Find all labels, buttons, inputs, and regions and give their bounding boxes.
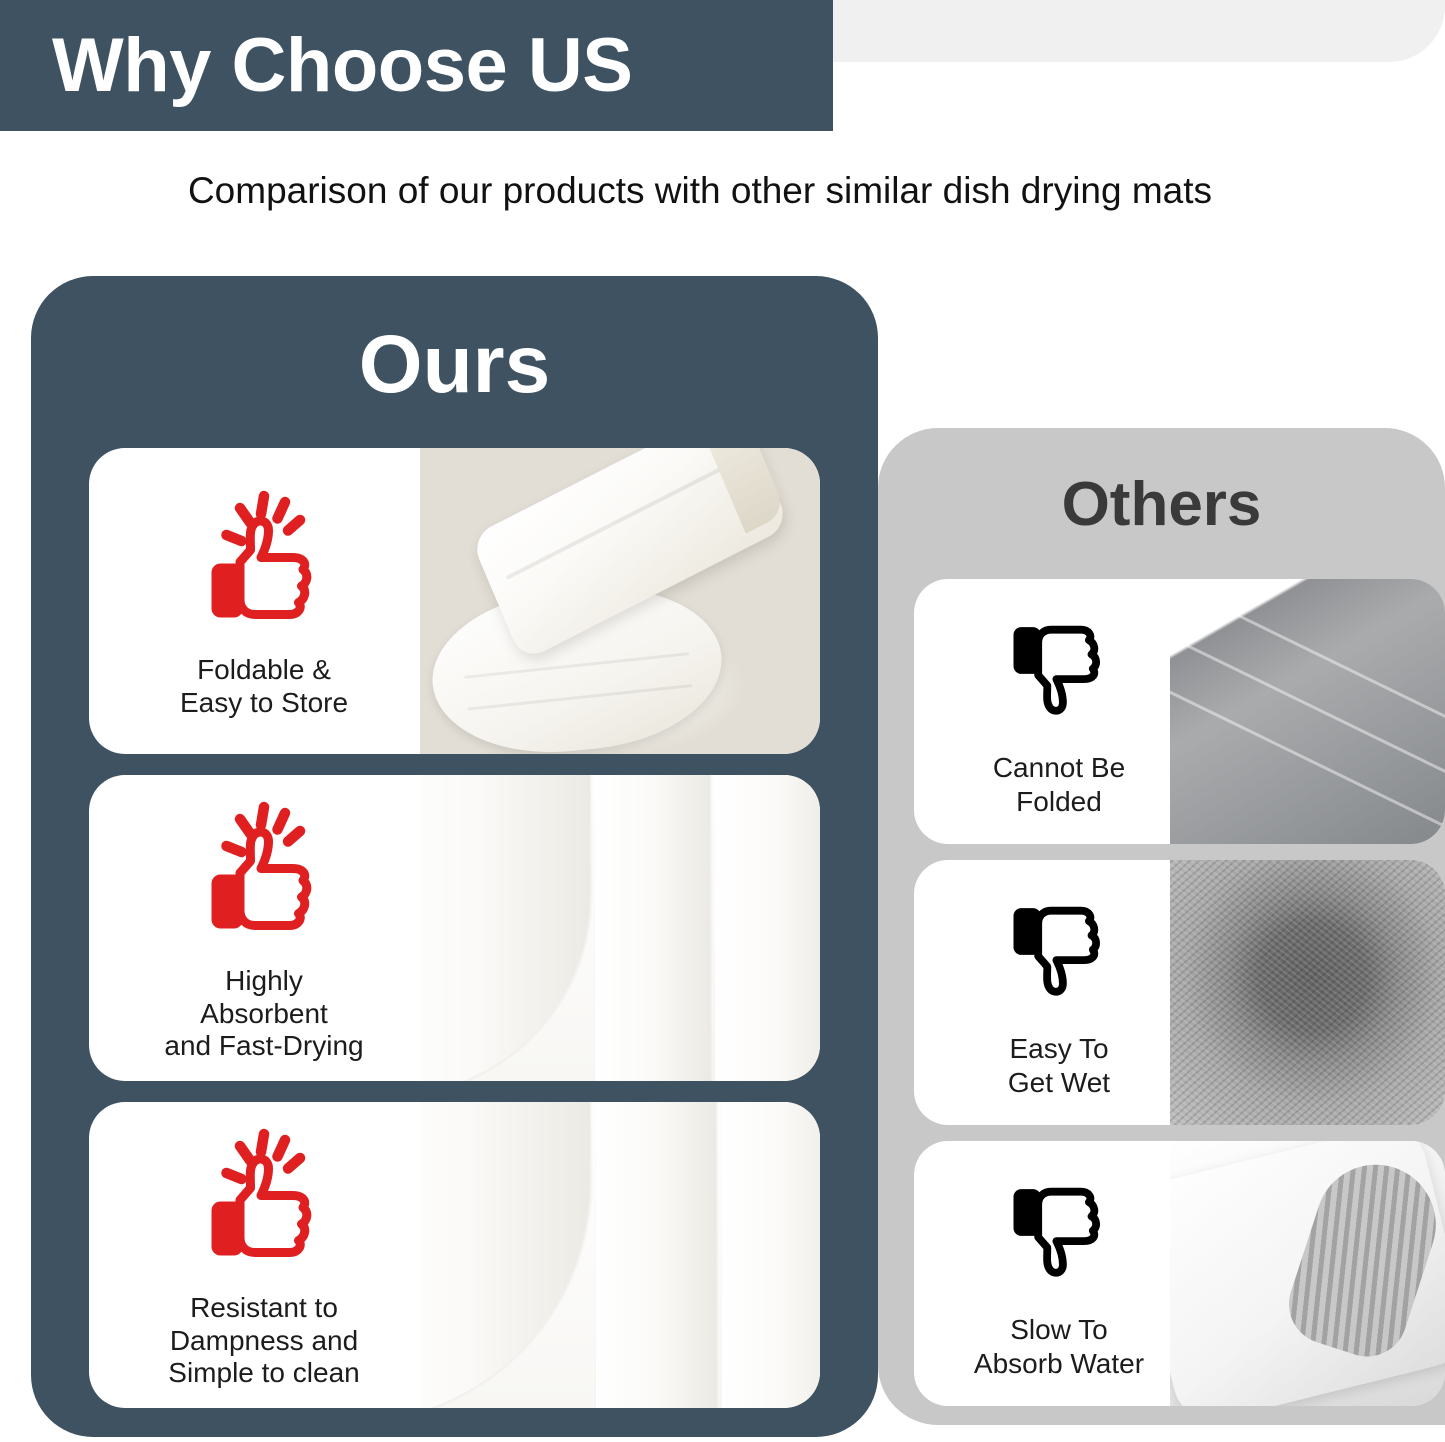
ours-card-absorbent: Highly Absorbent and Fast-Drying	[89, 775, 820, 1081]
others-card-text: Easy To Get Wet	[914, 860, 1204, 1125]
mat-slat	[596, 1102, 716, 1408]
thumbs-down-icon	[994, 886, 1124, 1016]
ours-card-caption: Resistant to Dampness and Simple to clea…	[168, 1292, 359, 1390]
ours-card-caption: Foldable & Easy to Store	[180, 654, 348, 720]
others-card-caption: Cannot Be Folded	[993, 751, 1125, 818]
thumbs-up-icon	[189, 1128, 339, 1278]
mat-slat	[722, 1102, 820, 1408]
mat-slat	[715, 775, 820, 1081]
ours-card-text: Resistant to Dampness and Simple to clea…	[89, 1102, 439, 1408]
ours-heading: Ours	[31, 324, 878, 406]
ours-card-text: Foldable & Easy to Store	[89, 448, 439, 754]
ours-card-list: Foldable & Easy to Store	[89, 448, 820, 1429]
others-card-list: Cannot Be Folded Easy To Get Wet	[914, 579, 1445, 1422]
ours-card-photo	[420, 448, 820, 754]
others-card-cannot-fold: Cannot Be Folded	[914, 579, 1445, 844]
others-card-caption: Easy To Get Wet	[1008, 1032, 1110, 1099]
thumbs-up-icon	[189, 801, 339, 951]
ours-card-photo	[420, 775, 820, 1081]
others-card-photo	[1170, 579, 1445, 844]
others-card-text: Slow To Absorb Water	[914, 1141, 1204, 1406]
mat-ridge	[1170, 687, 1445, 834]
others-card-photo	[1170, 1141, 1445, 1406]
thumbs-down-icon	[994, 1167, 1124, 1297]
ours-card-foldable: Foldable & Easy to Store	[89, 448, 820, 754]
mat-slat	[420, 775, 590, 1081]
others-panel: Others Cannot Be Folded	[878, 428, 1445, 1425]
others-card-slow-absorb: Slow To Absorb Water	[914, 1141, 1445, 1406]
others-card-text: Cannot Be Folded	[914, 579, 1204, 844]
page-subtitle: Comparison of our products with other si…	[0, 170, 1400, 212]
ours-card-resistant: Resistant to Dampness and Simple to clea…	[89, 1102, 820, 1408]
ours-panel: Ours	[31, 276, 878, 1437]
others-card-photo	[1170, 860, 1445, 1125]
thumbs-up-icon	[189, 490, 339, 640]
page-title: Why Choose US	[52, 28, 632, 104]
others-card-caption: Slow To Absorb Water	[974, 1313, 1144, 1380]
others-card-easy-wet: Easy To Get Wet	[914, 860, 1445, 1125]
mat-slat	[420, 1102, 590, 1408]
ours-card-text: Highly Absorbent and Fast-Drying	[89, 775, 439, 1081]
thumbs-down-icon	[994, 605, 1124, 735]
mat-slat	[595, 775, 710, 1081]
header-banner: Why Choose US	[0, 0, 833, 131]
ours-card-caption: Highly Absorbent and Fast-Drying	[164, 965, 363, 1063]
top-right-gray-band	[833, 0, 1445, 62]
others-heading: Others	[878, 474, 1445, 536]
ours-card-photo	[420, 1102, 820, 1408]
